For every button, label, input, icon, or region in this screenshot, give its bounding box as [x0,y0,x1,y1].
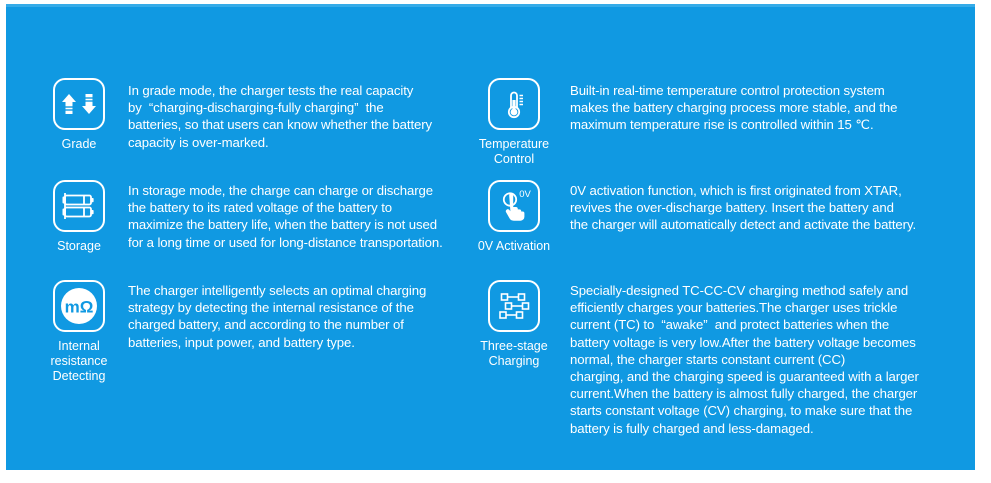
feature-icon-block-three-stage-charging: Three-stage Charging [455,280,573,369]
feature-caption-0v-activation: 0V Activation [455,239,573,254]
text-line: the battery to its rated voltage of the … [128,199,476,216]
three-stage-circuit-icon [488,280,540,332]
feature-caption-internal-resistance: Internal resistance Detecting [20,339,138,384]
caption-line: 0V Activation [455,239,573,254]
text-line: charged battery, and according to the nu… [128,316,473,333]
caption-line: Storage [20,239,138,254]
svg-text:mΩ: mΩ [65,298,94,317]
text-line: In grade mode, the charger tests the rea… [128,82,473,99]
text-line: battery is fully charged and less-damage… [570,420,950,437]
text-line: by “charging-discharging-fully charging”… [128,99,473,116]
caption-line: Control [455,152,573,167]
feature-text-grade: In grade mode, the charger tests the rea… [128,82,473,151]
grade-arrows-icon [53,78,105,130]
text-line: makes the battery charging process more … [570,99,950,116]
caption-line: Three-stage [455,339,573,354]
feature-icon-block-storage: Storage [20,180,138,254]
text-line: The charger intelligently selects an opt… [128,282,473,299]
caption-line: Detecting [20,369,138,384]
caption-line: Temperature [455,137,573,152]
feature-text-three-stage-charging: Specially-designed TC-CC-CV charging met… [570,282,950,437]
feature-caption-storage: Storage [20,239,138,254]
zero-v-icon-label: 0V [519,189,531,200]
text-line: normal, the charger starts constant curr… [570,351,950,368]
text-line: strategy by detecting the internal resis… [128,299,473,316]
text-line: Built-in real-time temperature control p… [570,82,950,99]
thermometer-icon [488,78,540,130]
caption-line: resistance [20,354,138,369]
feature-text-temperature-control: Built-in real-time temperature control p… [570,82,950,134]
caption-line: Internal [20,339,138,354]
text-line: revives the over-discharge battery. Inse… [570,199,950,216]
feature-text-storage: In storage mode, the charge can charge o… [128,182,476,251]
feature-caption-three-stage-charging: Three-stage Charging [455,339,573,369]
text-line: efficiently charges your batteries.The c… [570,299,950,316]
feature-caption-grade: Grade [20,137,138,152]
feature-text-0v-activation: 0V activation function, which is first o… [570,182,950,234]
milliohm-circle-icon: mΩ [53,280,105,332]
text-line: the charger will automatically detect an… [570,216,950,233]
caption-line: Grade [20,137,138,152]
banner-top-highlight [6,4,975,7]
feature-icon-block-temperature-control: Temperature Control [455,78,573,167]
page-root: Grade In grade mode, the charger tests t… [0,0,991,483]
text-line: Specially-designed TC-CC-CV charging met… [570,282,950,299]
text-line: maximum temperature rise is controlled w… [570,116,950,133]
hand-press-icon: 0V [488,180,540,232]
caption-line: Charging [455,354,573,369]
text-line: current (TC) to “awake” and protect batt… [570,316,950,333]
text-line: maximize the battery life, when the batt… [128,216,476,233]
text-line: capacity is over-marked. [128,134,473,151]
text-line: starts constant voltage (CV) charging, t… [570,402,950,419]
text-line: batteries, input power, and battery type… [128,334,473,351]
feature-icon-block-grade: Grade [20,78,138,152]
storage-batteries-icon [53,180,105,232]
text-line: battery voltage is very low.After the ba… [570,334,950,351]
feature-icon-block-0v-activation: 0V 0V Activation [455,180,573,254]
feature-text-internal-resistance: The charger intelligently selects an opt… [128,282,473,351]
text-line: charging, and the charging speed is guar… [570,368,950,385]
text-line: for a long time or used for long-distanc… [128,234,476,251]
text-line: batteries, so that users can know whethe… [128,116,473,133]
text-line: In storage mode, the charge can charge o… [128,182,476,199]
text-line: current.When the battery is almost fully… [570,385,950,402]
text-line: 0V activation function, which is first o… [570,182,950,199]
feature-icon-block-internal-resistance: mΩ Internal resistance Detecting [20,280,138,384]
feature-caption-temperature-control: Temperature Control [455,137,573,167]
